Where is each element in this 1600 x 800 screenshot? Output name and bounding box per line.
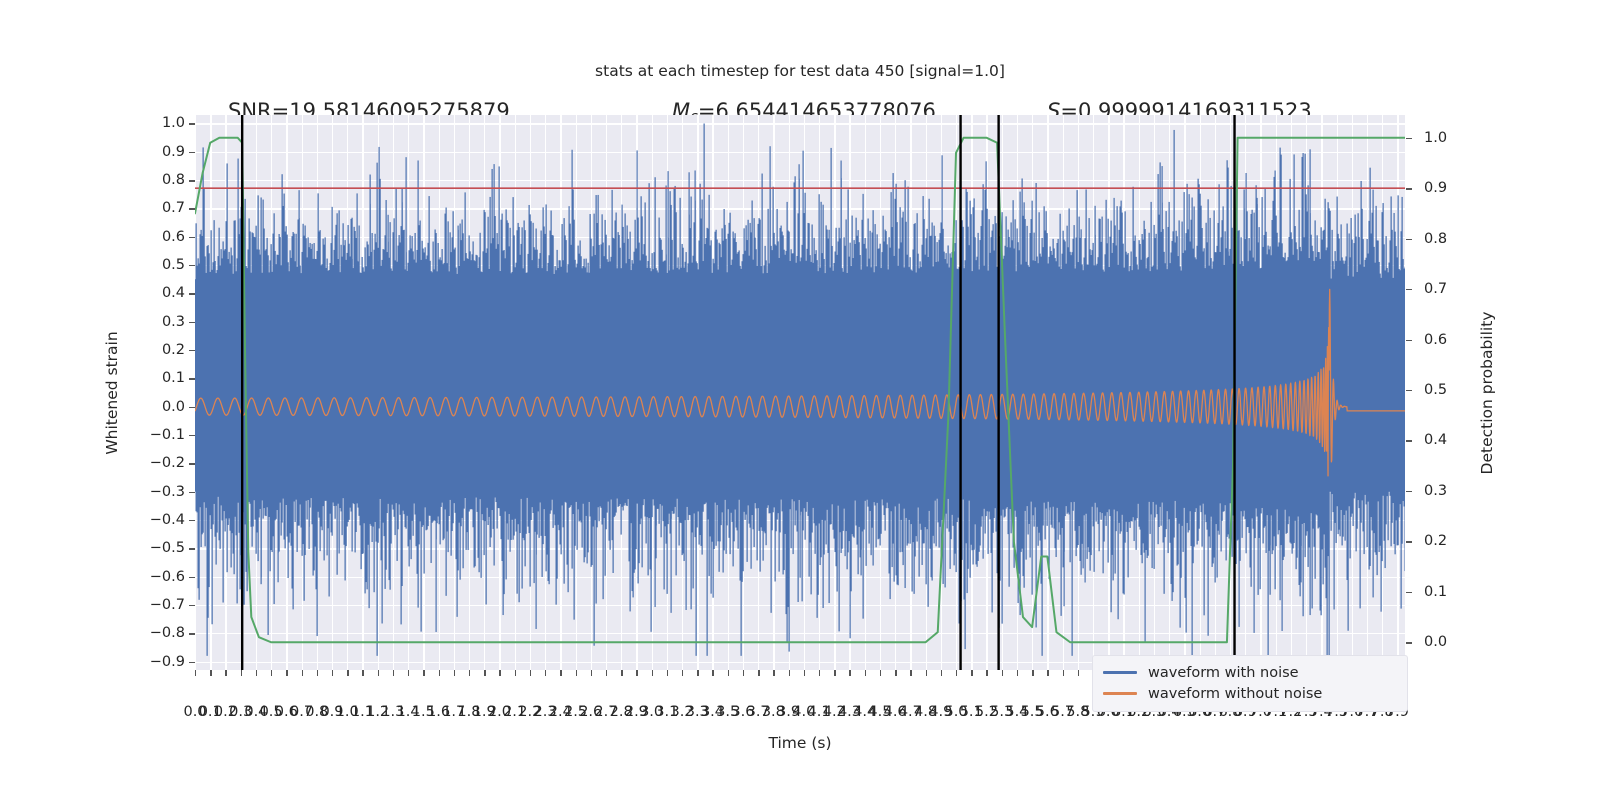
x-tick-mark xyxy=(423,670,424,676)
x-tick-mark xyxy=(225,670,226,676)
x-tick-mark xyxy=(1047,670,1048,676)
y-axis-label-left: Whitened strain xyxy=(103,331,121,454)
y-tick-mark-left xyxy=(189,293,195,294)
y-tick-mark-left xyxy=(189,350,195,351)
legend-item-signal[interactable]: waveform without noise xyxy=(1103,683,1397,704)
x-tick-mark xyxy=(439,670,440,676)
y-tick-mark-left xyxy=(189,492,195,493)
x-tick-mark xyxy=(302,670,303,676)
y-tick-mark-right xyxy=(1406,289,1412,290)
x-tick-mark xyxy=(728,670,729,676)
y-tick-mark-left xyxy=(189,378,195,379)
y-tick-label-left: 0.7 xyxy=(162,200,185,216)
y-tick-label-right: 0.1 xyxy=(1424,584,1447,600)
y-tick-label-right: 0.6 xyxy=(1424,332,1447,348)
x-tick-mark xyxy=(819,670,820,676)
y-tick-label-right: 1.0 xyxy=(1424,130,1447,146)
y-tick-mark-left xyxy=(189,152,195,153)
y-tick-label-right: 0.5 xyxy=(1424,382,1447,398)
y-tick-label-right: 0.8 xyxy=(1424,231,1447,247)
x-tick-mark xyxy=(1063,670,1064,676)
y-tick-label-right: 0.0 xyxy=(1424,634,1447,650)
x-tick-mark xyxy=(317,670,318,676)
x-axis-label: Time (s) xyxy=(768,734,831,752)
page-title: stats at each timestep for test data 450… xyxy=(0,62,1600,80)
y-tick-label-left: 0.8 xyxy=(162,172,185,188)
x-tick-mark xyxy=(347,670,348,676)
legend: waveform with noise waveform without noi… xyxy=(1092,655,1408,712)
x-tick-mark xyxy=(1002,670,1003,676)
y-tick-label-left: 0.5 xyxy=(162,257,185,273)
x-tick-mark xyxy=(865,670,866,676)
x-tick-mark xyxy=(834,670,835,676)
x-tick-mark xyxy=(576,670,577,676)
x-tick-mark xyxy=(545,670,546,676)
x-tick-mark xyxy=(667,670,668,676)
y-tick-label-left: 1.0 xyxy=(162,115,185,131)
x-tick-mark xyxy=(849,670,850,676)
y-tick-mark-left xyxy=(189,520,195,521)
x-tick-mark xyxy=(286,670,287,676)
x-tick-mark xyxy=(1017,670,1018,676)
x-tick-mark xyxy=(378,670,379,676)
x-tick-mark xyxy=(469,670,470,676)
y-tick-mark-left xyxy=(189,265,195,266)
x-tick-mark xyxy=(484,670,485,676)
y-tick-label-left: 0.2 xyxy=(162,342,185,358)
x-tick-mark xyxy=(804,670,805,676)
y-tick-label-right: 0.2 xyxy=(1424,533,1447,549)
y-tick-mark-right xyxy=(1406,239,1412,240)
x-tick-mark xyxy=(789,670,790,676)
x-tick-mark xyxy=(773,670,774,676)
y-tick-mark-right xyxy=(1406,390,1412,391)
x-tick-mark xyxy=(454,670,455,676)
y-tick-label-left: 0.4 xyxy=(162,285,185,301)
x-tick-mark xyxy=(652,670,653,676)
y-tick-mark-left xyxy=(189,577,195,578)
legend-label-noise: waveform with noise xyxy=(1148,665,1299,681)
x-tick-mark xyxy=(1032,670,1033,676)
x-tick-mark xyxy=(682,670,683,676)
x-tick-mark xyxy=(362,670,363,676)
legend-swatch-noise xyxy=(1103,671,1137,674)
y-tick-label-left: 0.0 xyxy=(162,399,185,415)
x-tick-mark xyxy=(971,670,972,676)
plot-area xyxy=(195,115,1405,670)
x-tick-mark xyxy=(986,670,987,676)
y-tick-label-left: −0.8 xyxy=(150,625,185,641)
y-tick-mark-left xyxy=(189,435,195,436)
x-tick-mark xyxy=(956,670,957,676)
y-tick-label-left: −0.4 xyxy=(150,512,185,528)
x-tick-mark xyxy=(530,670,531,676)
y-tick-label-left: −0.2 xyxy=(150,455,185,471)
x-tick-mark xyxy=(241,670,242,676)
y-tick-mark-left xyxy=(189,208,195,209)
y-tick-label-left: −0.9 xyxy=(150,654,185,670)
x-tick-mark xyxy=(743,670,744,676)
y-tick-label-left: −0.6 xyxy=(150,569,185,585)
y-tick-mark-left xyxy=(189,548,195,549)
legend-label-signal: waveform without noise xyxy=(1148,686,1322,702)
y-tick-mark-right xyxy=(1406,491,1412,492)
y-tick-mark-right xyxy=(1406,440,1412,441)
x-tick-mark xyxy=(880,670,881,676)
y-tick-mark-left xyxy=(189,180,195,181)
y-tick-mark-left xyxy=(189,633,195,634)
x-tick-mark xyxy=(636,670,637,676)
y-tick-label-left: 0.1 xyxy=(162,370,185,386)
y-tick-mark-left xyxy=(189,123,195,124)
x-tick-mark xyxy=(515,670,516,676)
x-tick-mark xyxy=(621,670,622,676)
x-tick-mark xyxy=(393,670,394,676)
y-tick-label-right: 0.9 xyxy=(1424,180,1447,196)
y-tick-label-left: −0.1 xyxy=(150,427,185,443)
x-tick-mark xyxy=(195,670,196,676)
y-tick-label-left: 0.3 xyxy=(162,314,185,330)
y-axis-label-right: Detection probability xyxy=(1478,312,1496,475)
y-tick-mark-left xyxy=(189,237,195,238)
y-tick-mark-right xyxy=(1406,188,1412,189)
x-tick-mark xyxy=(332,670,333,676)
legend-swatch-signal xyxy=(1103,692,1137,695)
x-tick-mark xyxy=(1078,670,1079,676)
y-tick-label-right: 0.4 xyxy=(1424,432,1447,448)
x-tick-mark xyxy=(758,670,759,676)
x-tick-mark xyxy=(712,670,713,676)
y-tick-mark-left xyxy=(189,407,195,408)
y-tick-mark-right xyxy=(1406,138,1412,139)
x-tick-mark xyxy=(910,670,911,676)
y-tick-mark-right xyxy=(1406,541,1412,542)
x-tick-mark xyxy=(606,670,607,676)
x-tick-mark xyxy=(941,670,942,676)
y-tick-label-left: 0.9 xyxy=(162,144,185,160)
y-tick-label-right: 0.7 xyxy=(1424,281,1447,297)
y-tick-mark-right xyxy=(1406,340,1412,341)
x-tick-mark xyxy=(560,670,561,676)
x-tick-mark xyxy=(499,670,500,676)
figure-canvas: stats at each timestep for test data 450… xyxy=(0,0,1600,800)
x-tick-mark xyxy=(408,670,409,676)
x-tick-mark xyxy=(271,670,272,676)
y-tick-label-right: 0.3 xyxy=(1424,483,1447,499)
y-tick-mark-left xyxy=(189,322,195,323)
x-tick-mark xyxy=(591,670,592,676)
y-tick-mark-right xyxy=(1406,642,1412,643)
x-tick-mark xyxy=(926,670,927,676)
x-tick-mark xyxy=(256,670,257,676)
y-tick-mark-left xyxy=(189,662,195,663)
y-tick-label-left: −0.5 xyxy=(150,540,185,556)
x-tick-mark xyxy=(895,670,896,676)
legend-item-noise[interactable]: waveform with noise xyxy=(1103,662,1397,683)
y-tick-mark-left xyxy=(189,605,195,606)
y-tick-label-left: 0.6 xyxy=(162,229,185,245)
series-detection-probability xyxy=(195,115,1405,670)
x-tick-mark xyxy=(210,670,211,676)
y-tick-label-left: −0.7 xyxy=(150,597,185,613)
y-tick-mark-left xyxy=(189,463,195,464)
y-tick-label-left: −0.3 xyxy=(150,484,185,500)
x-tick-mark xyxy=(697,670,698,676)
y-tick-mark-right xyxy=(1406,592,1412,593)
